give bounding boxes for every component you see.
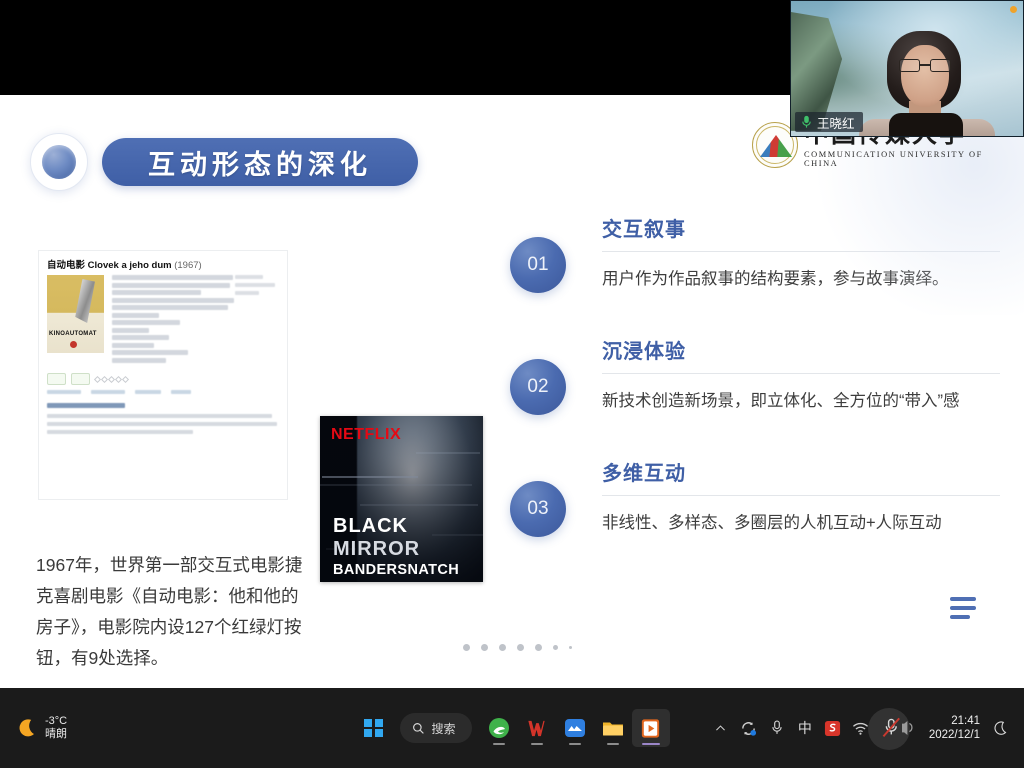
page-title-text: 互动形态的深化 [148,143,372,182]
point-body: 多维互动 非线性、多样态、多圈层的人机互动+人际互动 [602,457,1000,535]
poster-title-line2: MIRROR [333,538,420,561]
clock-date: 2022/12/1 [929,728,980,742]
participant-name: 王晓红 [817,113,855,132]
participant-glasses [899,59,951,72]
taskbar-app-blue-app[interactable] [556,709,594,747]
recording-indicator-dot [1010,6,1017,13]
slide-canvas[interactable]: 互动形态的深化 自动电影 Clovek a jeho dum (1967) KI… [0,95,1024,688]
slide-left-paragraph: 1967年，世界第一部交互式电影捷克喜剧电影《自动电影：他和他的房子》，电影院内… [36,550,306,674]
point-number-badge: 03 [510,481,566,537]
taskbar-app-file-explorer[interactable] [594,709,632,747]
slide-title-row: 互动形态的深化 [30,133,418,191]
douban-action-row[interactable] [39,365,287,385]
poster-brand-text: KINOAUTOMAT [49,331,97,337]
point-number-badge: 02 [510,359,566,415]
microphone-icon [801,115,812,129]
douban-want-to-watch-button[interactable] [47,373,66,385]
poster-title-line3: BANDERSNATCH [333,562,459,578]
douban-star-rating[interactable] [95,377,128,382]
list-item: 03 多维互动 非线性、多样态、多圈层的人机互动+人际互动 [510,457,1000,579]
taskbar-app-edge-browser[interactable] [480,709,518,747]
point-description: 非线性、多样态、多圈层的人机互动+人际互动 [602,496,1000,535]
search-placeholder: 搜索 [431,720,455,737]
douban-body: KINOAUTOMAT [39,275,287,365]
douban-credits-block [112,275,235,365]
point-body: 交互叙事 用户作为作品叙事的结构要素，参与故事演绎。 [602,213,1000,291]
taskbar-app-presentation-player[interactable] [632,709,670,747]
ime-indicator[interactable]: 中 [791,713,819,743]
system-tray[interactable]: 中 [707,713,1014,743]
taskbar-clock[interactable]: 21:41 2022/12/1 [929,714,980,742]
page-title: 互动形态的深化 [102,138,418,186]
douban-movie-screenshot: 自动电影 Clovek a jeho dum (1967) KINOAUTOMA… [38,250,288,500]
douban-watched-button[interactable] [71,373,90,385]
presentation-play-icon [639,717,662,740]
list-item: 02 沉浸体验 新技术创造新场景，即立体化、全方位的“带入”感 [510,335,1000,457]
microphone-muted-icon[interactable] [875,713,919,743]
douban-poster-thumb: KINOAUTOMAT [47,275,104,353]
douban-title-year: (1967) [174,260,201,271]
decorative-dots [463,644,572,651]
poster-brush-shape [65,279,95,323]
participant-video-tile[interactable]: 王晓红 [790,0,1024,137]
slide-points-list: 01 交互叙事 用户作为作品叙事的结构要素，参与故事演绎。 02 沉浸体验 新技… [510,213,1000,579]
netflix-logo: NETFLIX [331,426,401,444]
poster-title-line1: BLACK [333,515,408,538]
sogou-input-icon[interactable] [819,713,847,743]
moon-icon[interactable] [986,713,1014,743]
douban-movie-title: 自动电影 Clovek a jeho dum (1967) [39,251,287,275]
douban-title-en: Clovek a jeho dum [88,260,172,271]
presentation-stage: 互动形态的深化 自动电影 Clovek a jeho dum (1967) KI… [0,0,1024,688]
point-description: 用户作为作品叙事的结构要素，参与故事演绎。 [602,252,1000,291]
hamburger-menu-icon[interactable] [950,597,976,619]
windows-start-icon[interactable] [354,709,392,747]
blue-app-icon [563,716,587,740]
douban-link-row[interactable] [39,385,287,394]
point-number-badge: 01 [510,237,566,293]
point-heading: 多维互动 [602,457,1000,495]
douban-rating-block [235,275,279,365]
point-body: 沉浸体验 新技术创造新场景，即立体化、全方位的“带入”感 [602,335,1000,413]
chevron-up-icon[interactable] [707,713,735,743]
windows-taskbar[interactable]: -3°C 晴朗 搜索 [0,688,1024,768]
edge-browser-icon [487,716,511,740]
decorative-circle-icon [30,133,88,191]
participant-name-tag: 王晓红 [795,112,863,132]
point-description: 新技术创造新场景，即立体化、全方位的“带入”感 [602,374,1000,413]
microphone-icon[interactable] [763,713,791,743]
point-heading: 沉浸体验 [602,335,1000,373]
participant-face [901,45,949,107]
point-heading: 交互叙事 [602,213,1000,251]
list-item: 01 交互叙事 用户作为作品叙事的结构要素，参与故事演绎。 [510,213,1000,335]
clock-time: 21:41 [929,714,980,728]
douban-title-cn: 自动电影 [47,260,85,271]
netflix-poster-image: NETFLIX BLACK MIRROR BANDERSNATCH [320,416,483,582]
poster-red-dot [70,341,77,348]
participant-collar [889,113,963,137]
folder-icon [601,716,625,740]
search-icon [412,722,425,735]
sync-icon[interactable] [735,713,763,743]
university-name-en: COMMUNICATION UNIVERSITY OF CHINA [804,150,992,168]
taskbar-app-wps-office[interactable] [518,709,556,747]
speaker-icon [902,721,912,735]
search-input[interactable]: 搜索 [400,713,471,743]
wps-icon [525,717,548,740]
douban-synopsis-block [39,394,287,434]
